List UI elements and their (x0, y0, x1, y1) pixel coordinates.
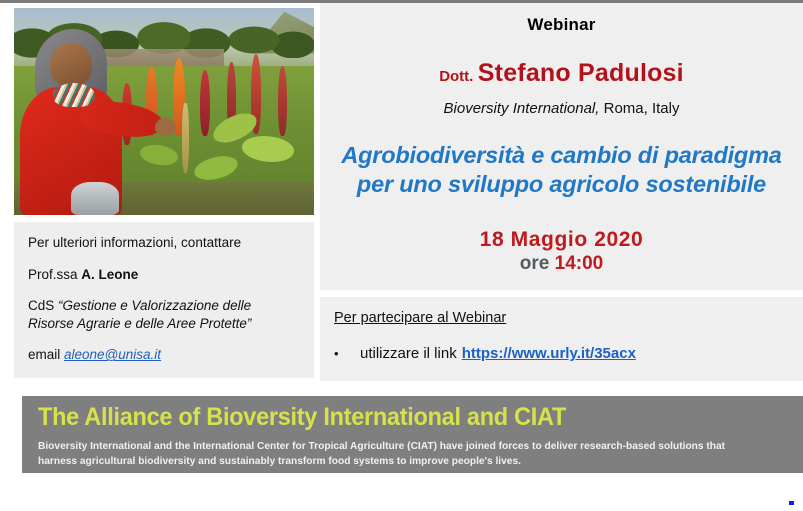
webinar-kicker: Webinar (320, 15, 803, 35)
bullet-icon: • (334, 347, 360, 360)
contact-email-prefix: email (28, 347, 64, 362)
affiliation-organization: Bioversity International, (444, 100, 600, 117)
cursor-marker (789, 501, 794, 505)
join-instructions-panel: Per partecipare al Webinar • utilizzare … (320, 297, 803, 381)
contact-email-line: email aleone@unisa.it (28, 346, 300, 364)
alliance-banner-title: The Alliance of Bioversity International… (38, 404, 740, 430)
affiliation-location: Roma, Italy (599, 100, 679, 117)
contact-course-name: “Gestione e Valorizzazione delle Risorse… (28, 298, 251, 331)
join-link-row: • utilizzare il link https://www.urly.it… (334, 345, 803, 362)
crop-seedhead (182, 103, 189, 173)
woman-necklace (53, 83, 95, 108)
contact-professor-name: A. Leone (81, 267, 138, 282)
event-date: 18 Maggio 2020 (320, 228, 803, 253)
woman-face (50, 43, 92, 86)
amaranth-field-photo (14, 8, 314, 215)
contact-intro-line: Per ulteriori informazioni, contattare (28, 234, 300, 252)
contact-course-prefix: CdS (28, 298, 58, 313)
crop-plume (200, 70, 210, 136)
join-heading: Per partecipare al Webinar (334, 310, 506, 326)
join-instruction-text: utilizzare il link (360, 345, 457, 362)
speaker-heading: Dott. Stefano Padulosi (320, 61, 803, 86)
event-datetime: 18 Maggio 2020 ore 14:00 (320, 228, 803, 275)
speaker-name: Stefano Padulosi (478, 59, 684, 87)
right-column: Webinar Dott. Stefano Padulosi Bioversit… (320, 3, 803, 381)
alliance-banner: The Alliance of Bioversity International… (22, 396, 803, 473)
contact-course-line: CdS “Gestione e Valorizzazione delle Ris… (28, 297, 300, 332)
event-time-label: ore (520, 253, 555, 274)
alliance-banner-body: Bioversity International and the Interna… (38, 439, 763, 469)
talk-title: Agrobiodiversità e cambio di paradigma p… (320, 141, 803, 198)
event-time-value: 14:00 (555, 253, 604, 274)
speaker-title: Dott. (439, 68, 473, 85)
contact-info-box: Per ulteriori informazioni, contattare P… (14, 222, 314, 378)
contact-professor-line: Prof.ssa A. Leone (28, 266, 300, 284)
speaker-affiliation: Bioversity International, Roma, Italy (320, 100, 803, 117)
event-time: ore 14:00 (320, 253, 803, 275)
left-column: Per ulteriori informazioni, contattare P… (14, 8, 314, 378)
contact-professor-prefix: Prof.ssa (28, 267, 81, 282)
metal-pot (71, 182, 119, 215)
talk-title-line-1: Agrobiodiversità e cambio di paradigma (320, 141, 803, 170)
webinar-details-panel: Webinar Dott. Stefano Padulosi Bioversit… (320, 3, 803, 290)
talk-title-line-2: per uno sviluppo agricolo sostenibile (320, 170, 803, 199)
contact-email-link[interactable]: aleone@unisa.it (64, 347, 161, 362)
webinar-join-link[interactable]: https://www.urly.it/35acx (462, 345, 636, 362)
crop-plume (278, 66, 287, 136)
